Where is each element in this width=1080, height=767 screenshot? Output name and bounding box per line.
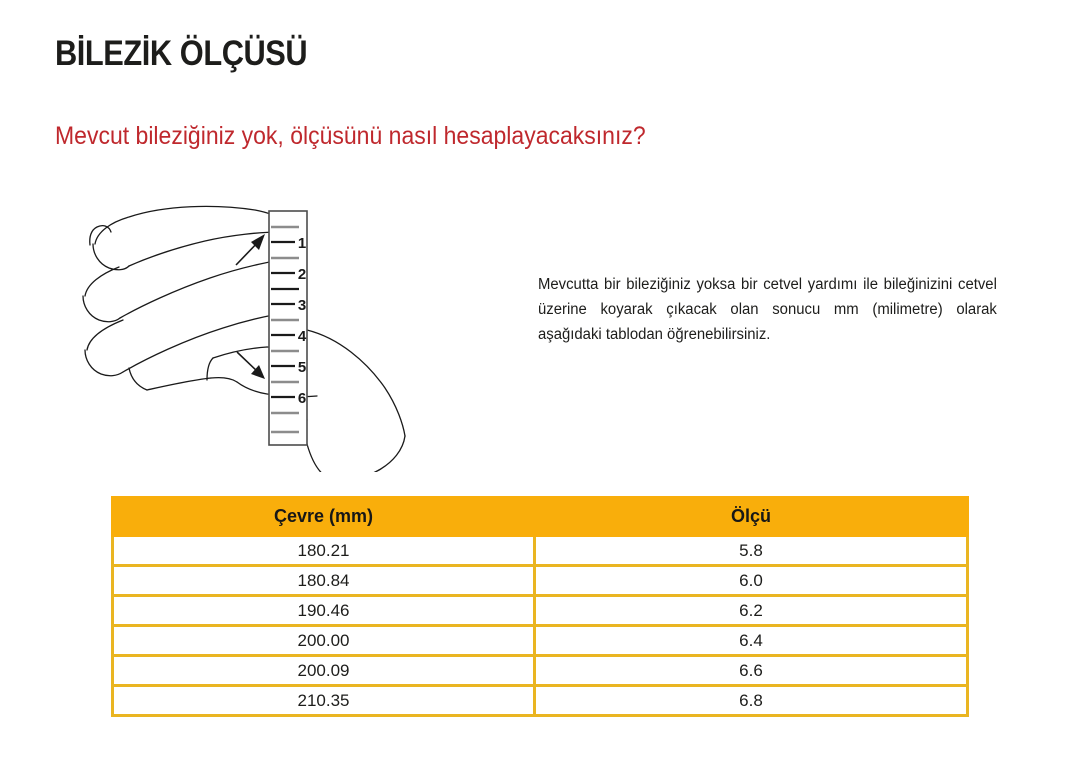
table-row: 180.84 6.0 [113,566,968,596]
table-header-row: Çevre (mm) Ölçü [113,498,968,536]
ruler-label-4: 4 [298,328,307,345]
cell-circumference: 210.35 [113,686,535,716]
table-body: 180.21 5.8 180.84 6.0 190.46 6.2 200.00 … [113,536,968,716]
table-row: 210.35 6.8 [113,686,968,716]
table-row: 190.46 6.2 [113,596,968,626]
ruler-label-3: 3 [298,297,306,314]
ruler: 1 2 3 4 5 6 [269,211,307,445]
size-table: Çevre (mm) Ölçü 180.21 5.8 180.84 6.0 19… [111,496,969,717]
table-row: 200.00 6.4 [113,626,968,656]
cell-circumference: 180.84 [113,566,535,596]
ruler-label-2: 2 [298,266,306,283]
hand-drawing [83,206,405,472]
cell-size: 6.8 [535,686,968,716]
ruler-label-5: 5 [298,359,306,376]
cell-size: 6.2 [535,596,968,626]
cell-circumference: 200.00 [113,626,535,656]
column-header-circumference: Çevre (mm) [113,498,535,536]
cell-size: 6.0 [535,566,968,596]
page-title: BİLEZİK ÖLÇÜSÜ [55,36,307,73]
arrow-lower-icon [237,352,265,379]
cell-circumference: 200.09 [113,656,535,686]
page-subtitle: Mevcut bileziğiniz yok, ölçüsünü nasıl h… [55,123,646,151]
ruler-label-6: 6 [298,390,306,407]
cell-size: 6.6 [535,656,968,686]
body-paragraph: Mevcutta bir bileziğiniz yoksa bir cetve… [538,272,997,347]
column-header-size: Ölçü [535,498,968,536]
cell-circumference: 180.21 [113,536,535,566]
table-row: 200.09 6.6 [113,656,968,686]
table-row: 180.21 5.8 [113,536,968,566]
cell-size: 5.8 [535,536,968,566]
cell-size: 6.4 [535,626,968,656]
hand-ruler-illustration: 1 2 3 4 5 6 [55,192,455,472]
arrow-upper-icon [236,234,265,265]
cell-circumference: 190.46 [113,596,535,626]
ruler-label-1: 1 [298,235,306,252]
